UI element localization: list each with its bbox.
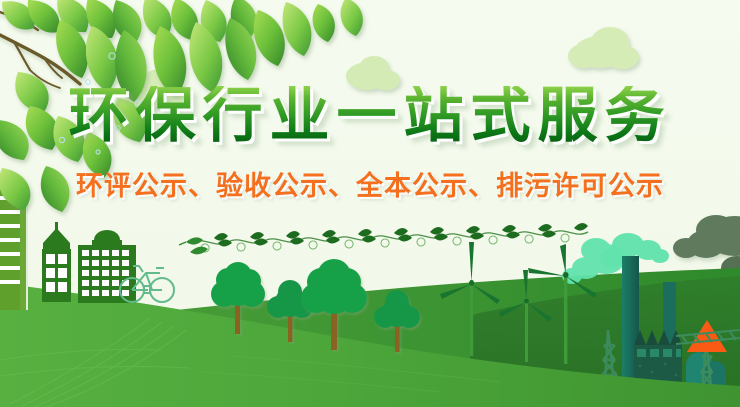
leaf-cluster: [0, 0, 740, 407]
title-block: 环保行业一站式服务 环评公示、验收公示、全本公示、排污许可公示: [0, 86, 740, 203]
page-title: 环保行业一站式服务: [0, 86, 740, 146]
eco-industry-banner: 环保行业一站式服务 环评公示、验收公示、全本公示、排污许可公示: [0, 0, 740, 407]
page-subtitle: 环评公示、验收公示、全本公示、排污许可公示: [0, 164, 740, 203]
floating-leaf: [179, 237, 203, 245]
